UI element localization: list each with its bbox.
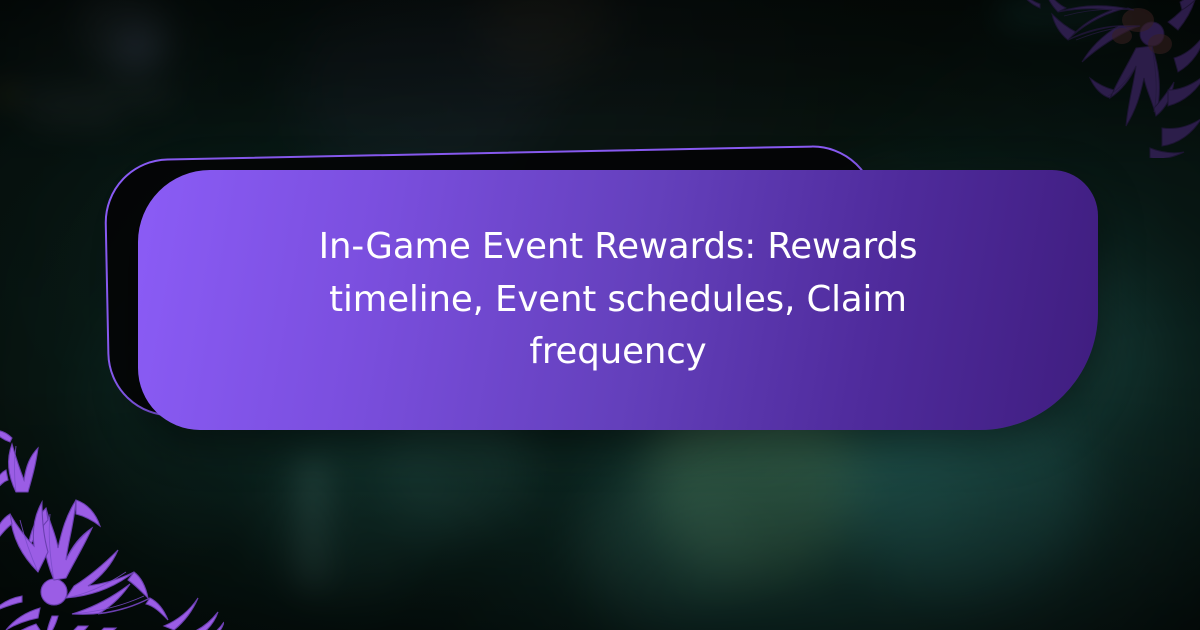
card-stack: In-Game Event Rewards: Rewards timeline,… [0, 0, 1200, 630]
page-title: In-Game Event Rewards: Rewards timeline,… [248, 221, 988, 379]
event-rewards-banner: In-Game Event Rewards: Rewards timeline,… [0, 0, 1200, 630]
title-card: In-Game Event Rewards: Rewards timeline,… [138, 170, 1098, 430]
